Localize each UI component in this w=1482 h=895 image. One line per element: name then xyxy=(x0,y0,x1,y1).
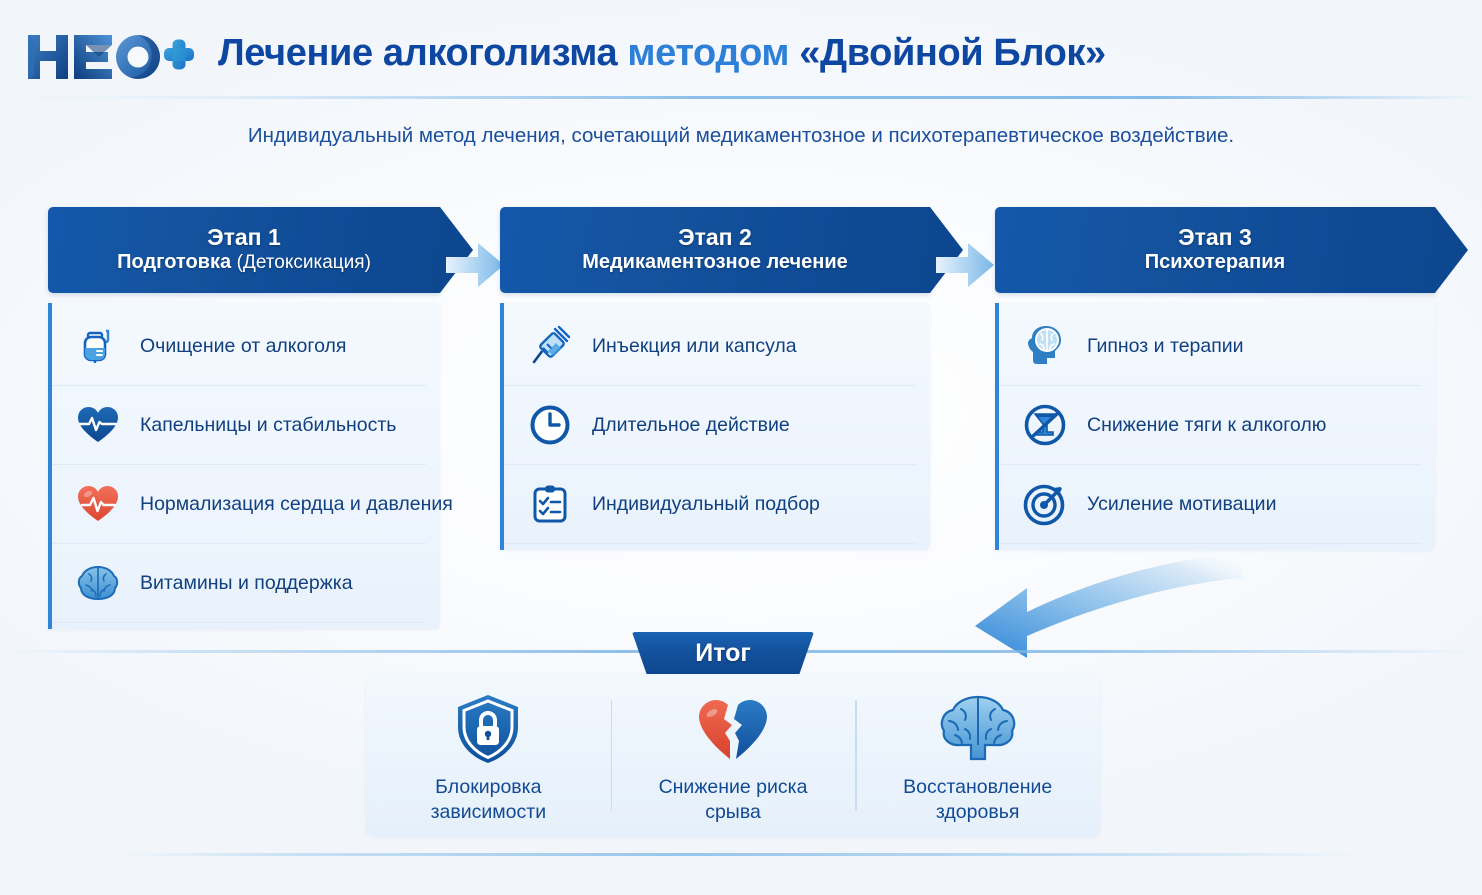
feature-label: Инъекция или капсула xyxy=(592,335,797,358)
stage-card-2: Этап 2 Медикаментозное лечение xyxy=(500,207,930,550)
feature-row[interactable]: Длительное действие xyxy=(504,386,916,465)
connector-arrow-2 xyxy=(928,236,1000,299)
stage-3-body: Гипноз и терапии Снижение тяги к алкогол… xyxy=(995,303,1435,550)
heart-pulse-red-icon xyxy=(74,480,122,528)
stage-3-title: Этап 3 xyxy=(1178,225,1252,250)
page-subtitle: Индивидуальный метод лечения, сочетающий… xyxy=(0,124,1482,148)
feature-label: Индивидуальный подбор xyxy=(592,493,820,516)
neo-plus-logo-icon xyxy=(26,31,194,81)
feature-label: Усиление мотивации xyxy=(1087,493,1276,516)
feature-label: Капельницы и стабильность xyxy=(140,414,396,437)
feature-label: Витамины и поддержка xyxy=(140,572,353,595)
clock-icon xyxy=(526,401,574,449)
result-item[interactable]: Блокировка зависимости xyxy=(366,674,611,837)
feature-row[interactable]: Инъекция или капсула xyxy=(504,307,916,386)
brain-full-icon xyxy=(935,693,1021,765)
feature-row[interactable]: Гипноз и терапии xyxy=(999,307,1421,386)
feature-label: Гипноз и терапии xyxy=(1087,335,1244,358)
header-divider xyxy=(0,96,1482,99)
feature-row[interactable]: Витамины и поддержка xyxy=(52,544,426,623)
brand-logo xyxy=(26,30,196,82)
result-item[interactable]: Восстановление здоровья xyxy=(855,674,1100,837)
result-item[interactable]: Снижение риска срыва xyxy=(611,674,856,837)
arrow-right-icon xyxy=(928,281,1000,298)
feature-row[interactable]: Усиление мотивации xyxy=(999,465,1421,544)
result-banner: Итог xyxy=(632,632,814,674)
broken-heart-icon xyxy=(694,693,772,765)
stage-3-name-main: Психотерапия xyxy=(1145,251,1285,273)
brain-icon xyxy=(74,559,122,607)
page-title-part3: «Двойной Блок» xyxy=(799,32,1105,74)
result-item-label: Восстановление здоровья xyxy=(903,775,1052,824)
feature-row[interactable]: Снижение тяги к алкоголю xyxy=(999,386,1421,465)
stage-2-name-main: Медикаментозное лечение xyxy=(582,251,848,273)
feature-row[interactable]: Капельницы и стабильность xyxy=(52,386,426,465)
stage-1-body: Очищение от алкоголя Капельницы и стабил… xyxy=(48,303,440,629)
page-title-part1: Лечение алкоголизма xyxy=(218,32,617,74)
page-title: Лечение алкоголизма методом «Двойной Бло… xyxy=(218,32,1106,75)
stage-3-header: Этап 3 Психотерапия xyxy=(995,207,1435,293)
feature-label: Снижение тяги к алкоголю xyxy=(1087,414,1326,437)
stage-2-body: Инъекция или капсула Длительное действие xyxy=(500,303,930,550)
shield-lock-icon xyxy=(451,693,525,765)
feature-row[interactable]: Индивидуальный подбор xyxy=(504,465,916,544)
feature-row[interactable]: Очищение от алкоголя xyxy=(52,307,426,386)
stage-2-header: Этап 2 Медикаментозное лечение xyxy=(500,207,930,293)
head-brain-icon xyxy=(1021,322,1069,370)
page-header: Лечение алкоголизма методом «Двойной Бло… xyxy=(0,0,1482,98)
checklist-icon xyxy=(526,480,574,528)
feature-label: Нормализация сердца и давления xyxy=(140,493,453,516)
stage-card-1: Этап 1 Подготовка (Детоксикация) Очищени… xyxy=(48,207,440,629)
stage-1-name-main: Подготовка xyxy=(117,251,231,273)
heart-pulse-dark-icon xyxy=(74,401,122,449)
syringe-icon xyxy=(526,322,574,370)
result-item-label: Снижение риска срыва xyxy=(659,775,808,824)
return-flow-arrow xyxy=(955,540,1245,665)
result-banner-label: Итог xyxy=(695,639,751,668)
stage-1-header: Этап 1 Подготовка (Детоксикация) xyxy=(48,207,440,293)
stage-3-name: Психотерапия xyxy=(1145,250,1285,275)
stage-2-name: Медикаментозное лечение xyxy=(582,250,848,275)
stage-1-name: Подготовка (Детоксикация) xyxy=(117,250,371,275)
no-alcohol-icon xyxy=(1021,401,1069,449)
footer-divider xyxy=(0,853,1482,856)
result-panel: Блокировка зависимости Снижение риска ср… xyxy=(366,674,1100,837)
stage-card-3: Этап 3 Психотерапия Гипноз и терапии xyxy=(995,207,1435,550)
feature-label: Очищение от алкоголя xyxy=(140,335,346,358)
result-item-label: Блокировка зависимости xyxy=(431,775,547,824)
page-title-part2: методом xyxy=(627,32,789,74)
stage-2-title: Этап 2 xyxy=(678,225,752,250)
target-arrow-icon xyxy=(1021,480,1069,528)
stage-1-name-paren: (Детоксикация) xyxy=(237,252,371,273)
stage-1-title: Этап 1 xyxy=(207,225,281,250)
iv-drip-icon xyxy=(74,322,122,370)
feature-row[interactable]: Нормализация сердца и давления xyxy=(52,465,426,544)
feature-label: Длительное действие xyxy=(592,414,790,437)
